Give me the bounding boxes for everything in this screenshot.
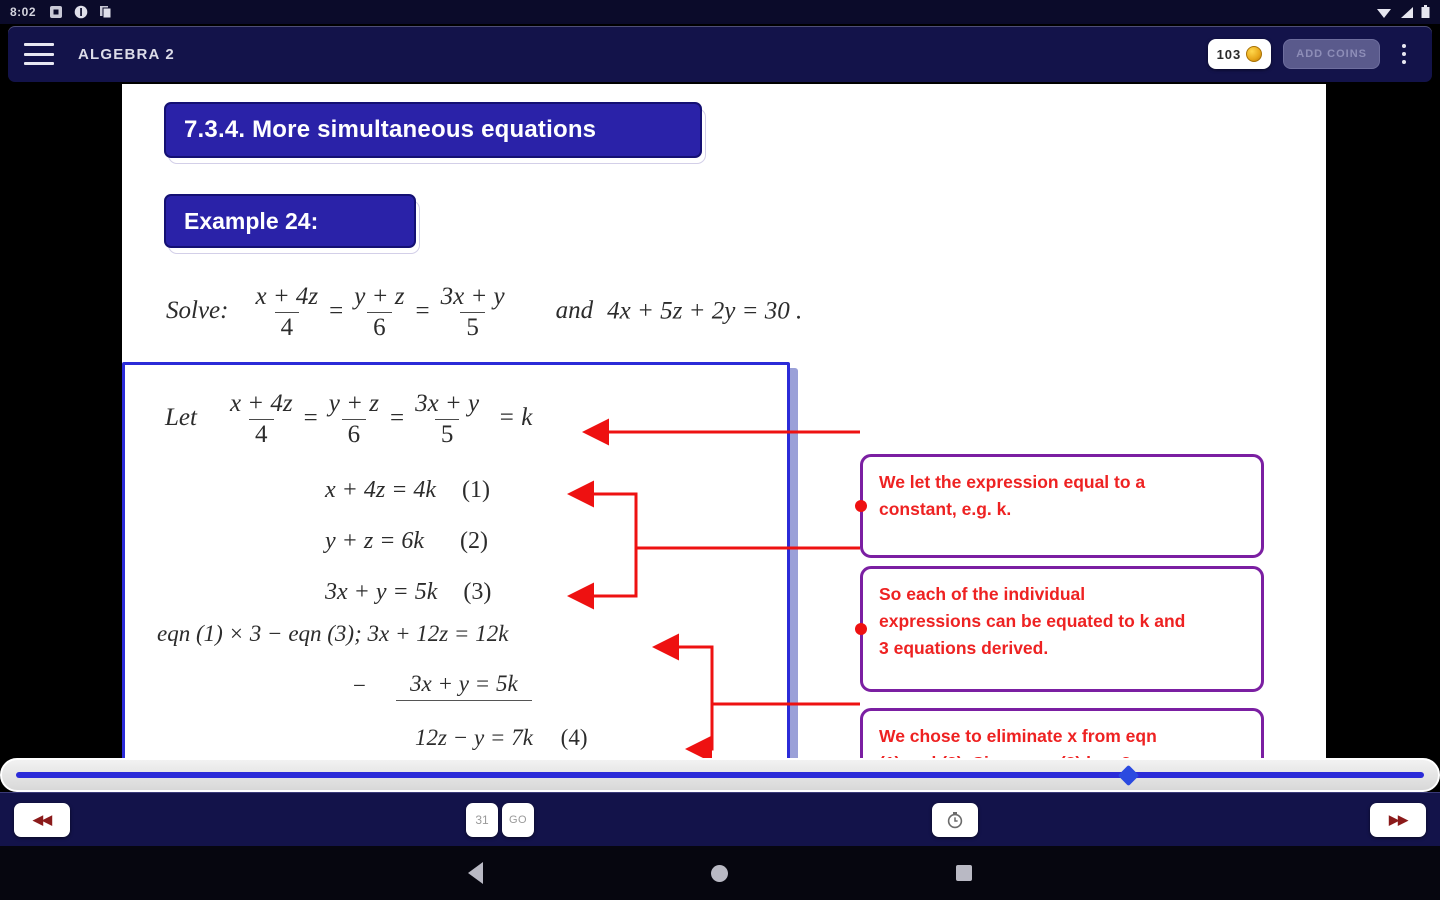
copy-icon	[99, 5, 113, 19]
derived-equation-row: 3x + y = 5k (3)	[325, 567, 491, 618]
rewind-icon: ◀◀	[33, 812, 51, 828]
coin-icon	[1246, 46, 1262, 62]
result-expression: 12z − y = 7k	[415, 725, 533, 750]
let-f1-num: x + 4z	[224, 391, 299, 419]
android-nav-bar	[0, 846, 1440, 900]
derived-equations-list: x + 4z = 4k (1) y + z = 6k (2) 3x + y = …	[325, 465, 491, 618]
let-line: Letx + 4z4=y + z6=3x + y5= k	[165, 391, 532, 449]
solve-fraction-3: 3x + y5	[435, 284, 511, 342]
info-icon	[74, 5, 88, 19]
let-result: = k	[498, 404, 532, 431]
working-frame: Letx + 4z4=y + z6=3x + y5= k x + 4z = 4k…	[122, 362, 790, 758]
derived-equation-expr: y + z = 6k	[325, 528, 424, 555]
derived-equation-tag: (1)	[462, 477, 490, 504]
callout-anchor-dot	[855, 500, 867, 512]
stopwatch-icon	[946, 811, 964, 829]
solve-f3-num: 3x + y	[435, 284, 511, 312]
let-fraction-2: y + z6	[323, 391, 385, 449]
timer-button[interactable]	[932, 803, 978, 837]
subtraction-row: − 3x + y = 5k	[353, 671, 532, 701]
callout-box: So each of the individual expressions ca…	[860, 566, 1264, 692]
add-coins-button[interactable]: ADD COINS	[1283, 39, 1380, 69]
screenshot-icon	[49, 5, 63, 19]
solve-f2-num: y + z	[348, 284, 410, 312]
app-bar: ALGEBRA 2 103 ADD COINS	[8, 26, 1432, 82]
solve-fraction-1: x + 4z4	[249, 284, 324, 342]
app-bar-actions: 103 ADD COINS	[1208, 39, 1416, 69]
let-eq-1: =	[304, 404, 318, 431]
status-time: 8:02	[10, 5, 36, 19]
solve-eq-2: =	[415, 297, 429, 324]
derived-equation-row: x + 4z = 4k (1)	[325, 465, 491, 516]
example-badge-label: Example 24:	[164, 194, 416, 248]
recents-icon[interactable]	[956, 865, 972, 881]
wifi-icon	[1376, 6, 1392, 19]
let-fraction-3: 3x + y5	[409, 391, 485, 449]
elimination-line: eqn (1) × 3 − eqn (3); 3x + 12z = 12k	[157, 621, 508, 647]
next-page-button[interactable]: ▶▶	[1370, 803, 1426, 837]
derived-equation-tag: (3)	[463, 579, 491, 606]
callout-line: So each of the individual	[879, 581, 1245, 608]
seek-track[interactable]	[16, 772, 1424, 778]
example-badge: Example 24:	[164, 194, 416, 248]
let-fraction-1: x + 4z4	[224, 391, 299, 449]
solve-f1-den: 4	[275, 312, 300, 341]
go-to-page-button[interactable]: GO	[502, 803, 534, 837]
callout-anchor-dot	[855, 623, 867, 635]
callout-line: We chose to eliminate x from eqn	[879, 723, 1245, 750]
battery-icon	[1421, 5, 1430, 19]
kebab-menu-icon[interactable]	[1392, 39, 1416, 69]
callout-line: We let the expression equal to a	[879, 469, 1245, 496]
subtraction-expression: 3x + y = 5k	[396, 671, 532, 701]
bottom-toolbar: ◀◀ 31 GO ▶▶	[0, 792, 1440, 846]
content-stage: 7.3.4. More simultaneous equations Examp…	[0, 84, 1440, 758]
back-icon[interactable]	[468, 862, 483, 884]
callout-line: constant, e.g. k.	[879, 496, 1245, 523]
page-number-input[interactable]: 31	[466, 803, 498, 837]
solve-eq-1: =	[329, 297, 343, 324]
section-heading: 7.3.4. More simultaneous equations	[164, 102, 702, 158]
solve-fraction-2: y + z6	[348, 284, 410, 342]
solve-f1-num: x + 4z	[249, 284, 324, 312]
fast-forward-icon: ▶▶	[1389, 812, 1407, 828]
callout-box: We let the expression equal to a constan…	[860, 454, 1264, 558]
result-row: 12z − y = 7k (4)	[415, 725, 588, 751]
solve-and-label: and	[556, 297, 594, 324]
let-eq-2: =	[390, 404, 404, 431]
let-f1-den: 4	[249, 419, 274, 448]
home-icon[interactable]	[711, 865, 728, 882]
subtraction-operator: −	[353, 673, 366, 699]
solve-f2-den: 6	[367, 312, 392, 341]
let-label: Let	[165, 404, 197, 431]
derived-equation-row: y + z = 6k (2)	[325, 516, 491, 567]
solve-extra-equation: 4x + 5z + 2y = 30 .	[607, 297, 802, 324]
derived-equation-tag: (2)	[460, 528, 488, 555]
let-f2-num: y + z	[323, 391, 385, 419]
signal-icon	[1399, 6, 1414, 19]
page-seek-bar[interactable]	[0, 758, 1440, 792]
status-system-icons	[1376, 5, 1430, 19]
callout-line: 3 equations derived.	[879, 635, 1245, 662]
seek-thumb[interactable]	[1118, 764, 1139, 785]
solve-equation-line: Solve:x + 4z4=y + z6=3x + y5and4x + 5z +…	[166, 284, 802, 342]
coin-balance[interactable]: 103	[1208, 39, 1272, 69]
let-f3-num: 3x + y	[409, 391, 485, 419]
solve-f3-den: 5	[460, 312, 485, 341]
result-tag: (4)	[561, 725, 588, 750]
hamburger-menu-icon[interactable]	[24, 43, 54, 65]
previous-page-button[interactable]: ◀◀	[14, 803, 70, 837]
coin-count-label: 103	[1217, 47, 1242, 62]
status-bar: 8:02	[0, 0, 1440, 24]
let-f2-den: 6	[342, 419, 367, 448]
derived-equation-expr: x + 4z = 4k	[325, 477, 436, 504]
callout-line: expressions can be equated to k and	[879, 608, 1245, 635]
app-title: ALGEBRA 2	[78, 46, 175, 63]
let-f3-den: 5	[435, 419, 460, 448]
solve-label: Solve:	[166, 297, 228, 324]
derived-equation-expr: 3x + y = 5k	[325, 579, 437, 606]
status-notification-icons	[49, 5, 113, 19]
section-heading-label: 7.3.4. More simultaneous equations	[164, 102, 702, 158]
